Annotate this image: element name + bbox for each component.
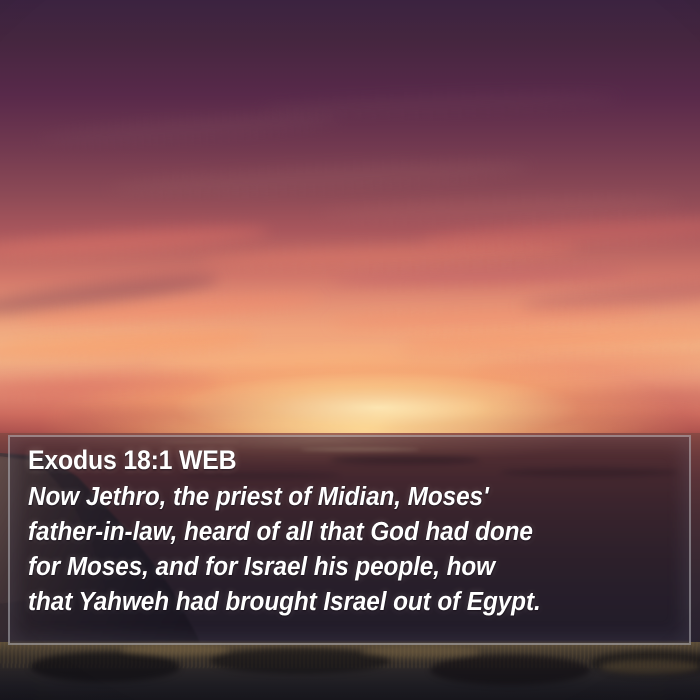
verse-text-line: father-in-law, heard of all that God had… xyxy=(28,515,646,550)
verse-text-line: for Moses, and for Israel his people, ho… xyxy=(28,550,646,585)
ground-shrub xyxy=(430,655,590,685)
verse-reference: Exodus 18:1 WEB xyxy=(28,444,623,477)
ground-dry-grass xyxy=(600,660,700,674)
horizon-glow xyxy=(0,350,700,440)
verse-overlay-panel: Exodus 18:1 WEB Now Jethro, the priest o… xyxy=(8,435,691,645)
verse-content: Exodus 18:1 WEB Now Jethro, the priest o… xyxy=(10,437,689,643)
verse-text: Now Jethro, the priest of Midian, Moses'… xyxy=(28,480,646,620)
ground-shrub xyxy=(30,652,180,682)
verse-text-line: Now Jethro, the priest of Midian, Moses' xyxy=(28,480,646,515)
verse-text-line: that Yahweh had brought Israel out of Eg… xyxy=(28,585,646,620)
ground-dry-grass xyxy=(360,646,480,658)
ground-dry-grass xyxy=(120,644,230,656)
verse-image-canvas: Exodus 18:1 WEB Now Jethro, the priest o… xyxy=(0,0,700,700)
